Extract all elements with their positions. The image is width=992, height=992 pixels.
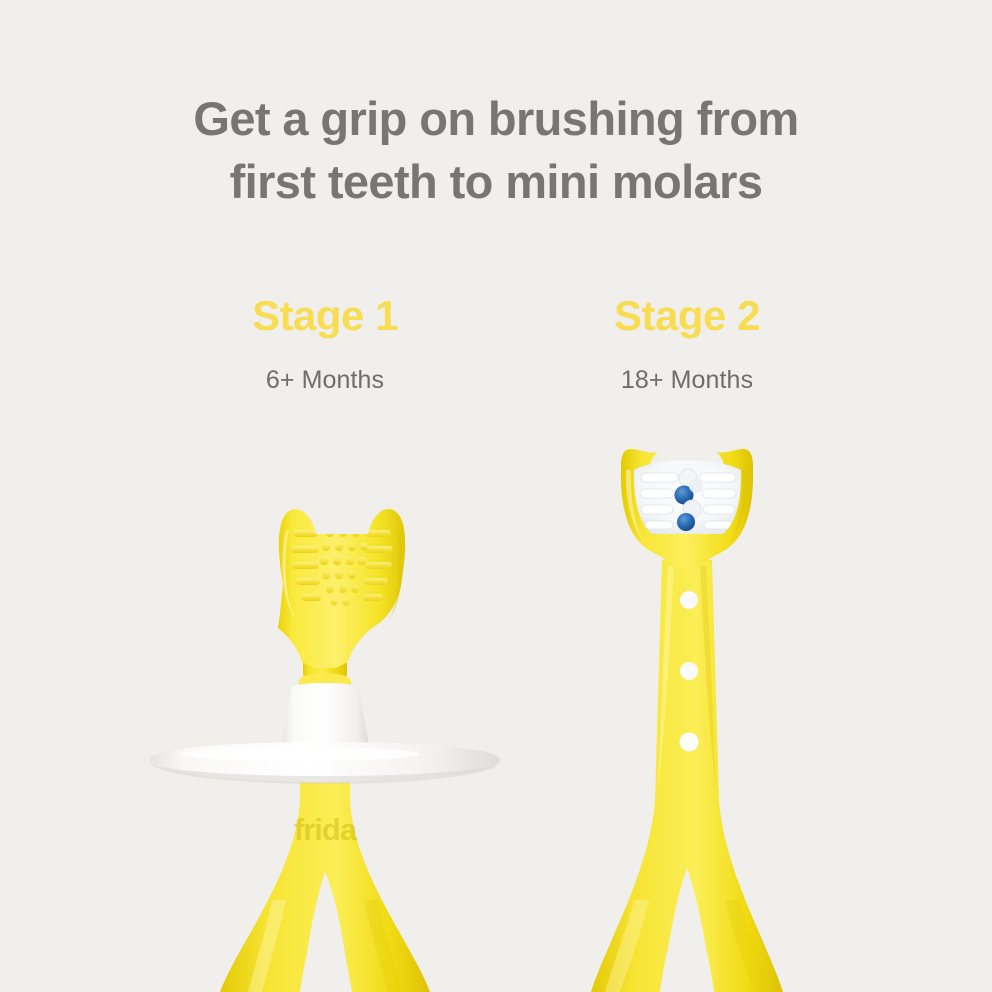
stage-2-handle bbox=[591, 560, 783, 992]
stage-1-title: Stage 1 bbox=[175, 292, 475, 340]
stage-2-center-tufts bbox=[675, 469, 704, 531]
headline-line-1: Get a grip on brushing from bbox=[193, 92, 798, 145]
stage-1-safety-shield bbox=[150, 683, 500, 784]
stage-1-bristle-nubs bbox=[291, 529, 393, 606]
stage-2-handle-dots bbox=[680, 591, 699, 752]
stage-1-brush-head bbox=[278, 509, 405, 668]
stage-1-label-group: Stage 1 6+ Months bbox=[175, 292, 475, 395]
stage-2-title: Stage 2 bbox=[537, 292, 837, 340]
stage-2-product-image bbox=[591, 449, 783, 992]
stage-2-age: 18+ Months bbox=[537, 366, 837, 395]
stage-1-product-image: frida bbox=[150, 509, 500, 992]
stage-2-bristles bbox=[640, 469, 736, 531]
svg-text:frida: frida bbox=[294, 812, 358, 847]
stage-1-age: 6+ Months bbox=[175, 366, 475, 395]
product-comparison-graphic: Get a grip on brushing from first teeth … bbox=[0, 0, 992, 992]
stage-1-neck bbox=[299, 615, 351, 692]
stage-2-label-group: Stage 2 18+ Months bbox=[537, 292, 837, 395]
frida-logo: frida bbox=[294, 812, 358, 847]
stage-2-brush-head bbox=[621, 449, 753, 568]
page-title: Get a grip on brushing from first teeth … bbox=[0, 88, 992, 213]
headline-line-2: first teeth to mini molars bbox=[0, 151, 992, 214]
stage-1-handle bbox=[220, 700, 430, 992]
